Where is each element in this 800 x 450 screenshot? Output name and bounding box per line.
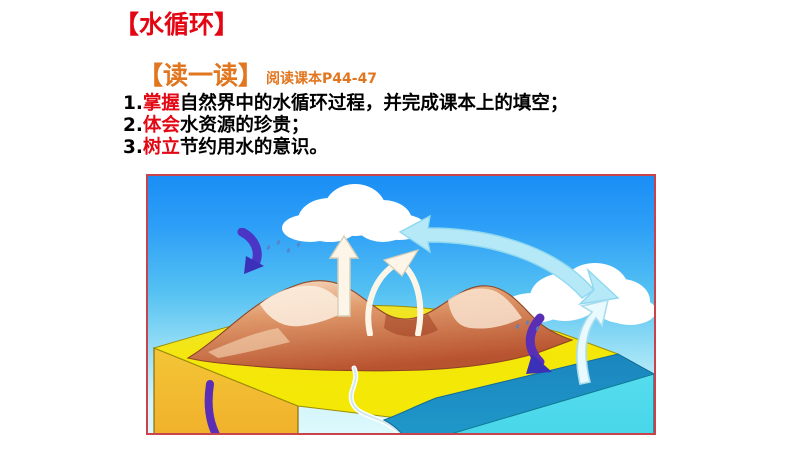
objectives-list: 1.掌握自然界中的水循环过程，并完成课本上的填空； 2.体会水资源的珍贵； 3.… (123, 93, 683, 159)
transpiration-arrows-icon (348, 238, 468, 336)
objective-text: 自然界中的水循环过程，并完成课本上的填空； (180, 93, 569, 114)
objective-number: 2. (123, 115, 143, 136)
textbook-reference: 阅读课本P44-47 (266, 68, 377, 88)
list-item: 1.掌握自然界中的水循环过程，并完成课本上的填空； (123, 93, 683, 115)
evaporation-arrow-ocean-icon (564, 298, 612, 386)
page-title: 【水循环】 (114, 9, 239, 40)
figure-canvas (148, 176, 654, 433)
slide-root: 【水循环】 【读一读】 阅读课本P44-47 1.掌握自然界中的水循环过程，并完… (0, 0, 800, 450)
read-section: 【读一读】 阅读课本P44-47 1.掌握自然界中的水循环过程，并完成课本上的填… (138, 62, 698, 158)
list-item: 3.树立节约用水的意识。 (123, 137, 683, 159)
objective-keyword: 体会 (143, 115, 180, 136)
objective-keyword: 树立 (143, 137, 180, 158)
precipitation-arrow-mountain-icon (234, 228, 270, 276)
read-heading: 【读一读】 (138, 62, 263, 91)
objective-text: 水资源的珍贵； (180, 115, 310, 136)
objective-keyword: 掌握 (143, 93, 180, 114)
water-cycle-figure (146, 174, 656, 435)
objective-number: 3. (123, 137, 143, 158)
objective-number: 1. (123, 93, 143, 114)
objective-text: 节约用水的意识。 (180, 137, 328, 158)
read-heading-row: 【读一读】 阅读课本P44-47 (138, 62, 698, 91)
list-item: 2.体会水资源的珍贵； (123, 115, 683, 137)
